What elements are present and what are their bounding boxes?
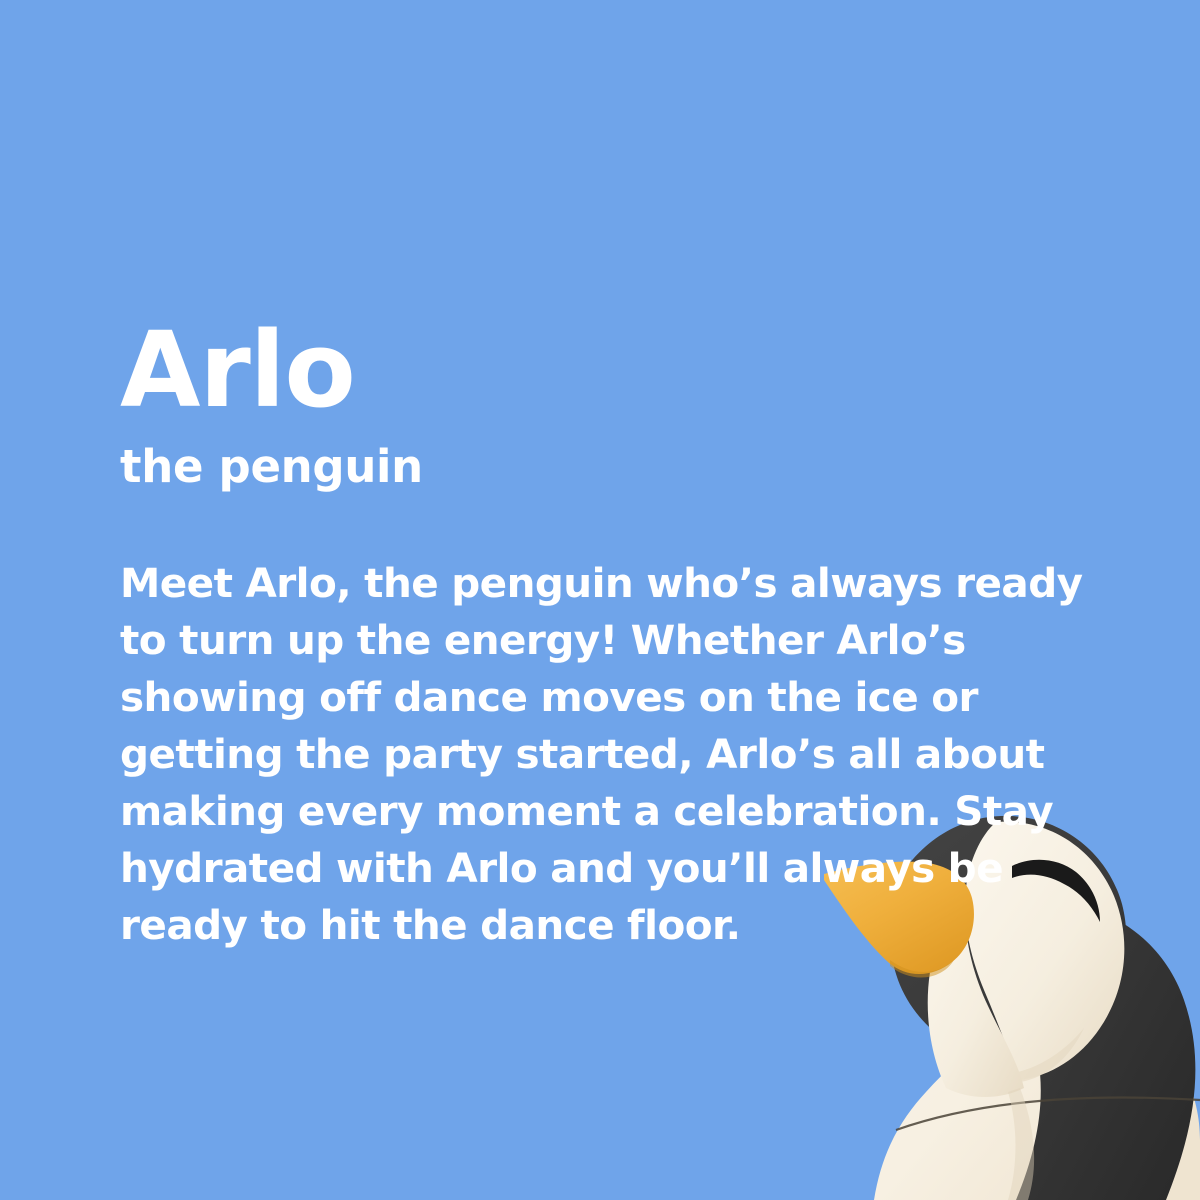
penguin-body-shadow xyxy=(1008,1088,1034,1200)
penguin-seam-line xyxy=(896,1098,1200,1130)
penguin-cheek-shadow xyxy=(1018,1028,1084,1082)
character-tagline: the penguin xyxy=(120,444,1140,489)
penguin-beak-shadow xyxy=(890,960,954,977)
character-card: Arlo the penguin Meet Arlo, the penguin … xyxy=(0,0,1200,1200)
character-text-block: Arlo the penguin Meet Arlo, the penguin … xyxy=(120,318,1140,954)
penguin-belly xyxy=(874,1005,1200,1200)
character-name-title: Arlo xyxy=(120,318,1140,422)
character-description: Meet Arlo, the penguin who’s always read… xyxy=(120,555,1130,954)
